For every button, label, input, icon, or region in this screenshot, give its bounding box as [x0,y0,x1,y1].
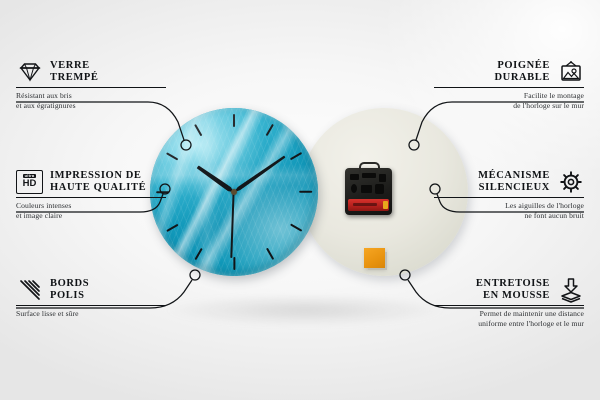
callout-description: Permet de maintenir une distance uniform… [434,309,584,328]
callout-description: Les aiguilles de l'horloge ne font aucun… [434,201,584,220]
foam-spacer [364,248,385,268]
callout-divider [16,305,166,306]
mechanism-detail [361,185,372,193]
callout-impression-haute-qualite: ultra HD Impression de haute qualité Cou… [16,168,166,220]
callout-description: Facilite le montage de l'horloge sur le … [434,91,584,110]
hour-marker [233,257,235,270]
clock-center-cap [231,189,237,195]
callout-header: Mécanisme silencieux [434,168,584,195]
battery-stripe [353,203,377,206]
callout-header: ultra HD Impression de haute qualité [16,168,166,195]
mechanism-detail [379,174,386,182]
product-floor-shadow [130,290,480,330]
hanging-picture-icon [557,58,584,85]
callout-poignee-durable: Poignée durable Facilite le montage de l… [434,58,584,110]
mechanism-detail [375,184,384,194]
callout-header: Bords polis [16,276,166,303]
mechanism-detail [351,184,357,193]
callout-title: Poignée durable [494,60,550,83]
hd-label: HD [23,179,37,189]
callout-divider [434,87,584,88]
press-down-layers-icon [557,276,584,303]
diamond-icon [16,58,43,85]
callout-description: Résistant aux bris et aux égratignures [16,91,166,110]
callout-title: Mécanisme silencieux [478,170,550,193]
callout-bords-polis: Bords polis Surface lisse et sûre [16,276,166,319]
battery-terminal [383,201,388,209]
callout-divider [16,197,166,198]
glass-reflection-horizontal [150,164,318,186]
callout-header: Entretoise en mousse [434,276,584,303]
gear-icon [557,168,584,195]
callout-description: Couleurs intenses et image claire [16,201,166,220]
callout-header: Verre trempé [16,58,166,85]
mechanism-detail [350,174,359,180]
battery [348,199,389,211]
mechanism-detail [362,173,376,178]
clock-front-view [150,108,318,276]
callout-mecanisme-silencieux: Mécanisme silencieux Les aiguilles de l'… [434,168,584,220]
callout-description: Surface lisse et sûre [16,309,166,318]
callout-title: Impression de haute qualité [50,170,146,193]
callout-title: Verre trempé [50,60,99,83]
callout-divider [434,305,584,306]
callout-title: Bords polis [50,278,89,301]
callout-title: Entretoise en mousse [476,278,550,301]
mechanism-hanger-icon [359,162,380,173]
callout-divider [434,197,584,198]
hd-badge: ultra HD [16,170,43,194]
callout-divider [16,87,166,88]
ultra-hd-icon: ultra HD [16,168,43,195]
callout-header: Poignée durable [434,58,584,85]
infographic-canvas: Verre trempé Résistant aux bris et aux é… [0,0,600,400]
clock-mechanism [345,168,392,215]
callout-entretoise-en-mousse: Entretoise en mousse Permet de maintenir… [434,276,584,328]
callout-verre-trempe: Verre trempé Résistant aux bris et aux é… [16,58,166,110]
diagonal-lines-icon [16,276,43,303]
